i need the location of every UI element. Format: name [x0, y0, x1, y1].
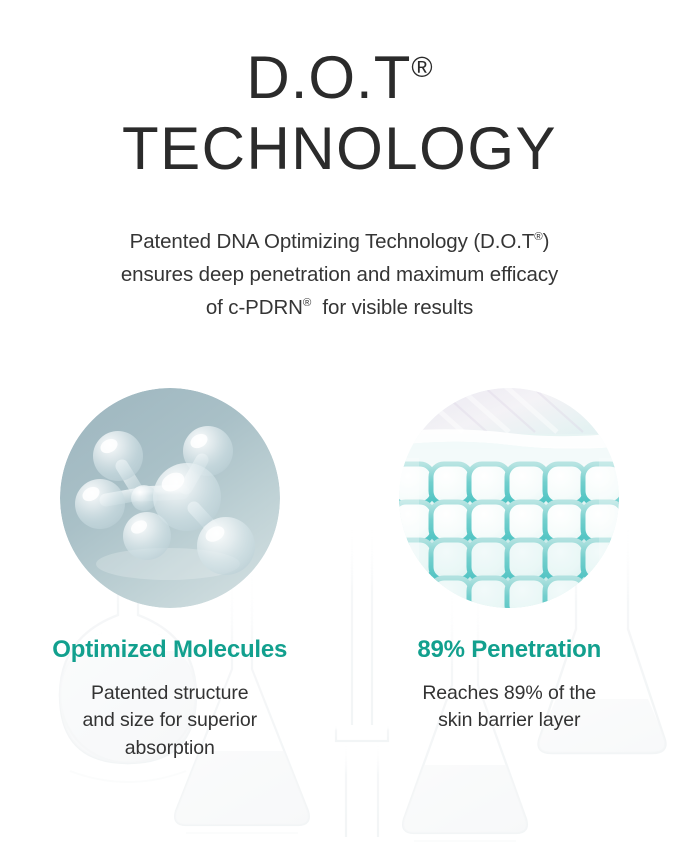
skin-barrier-illustration	[399, 388, 619, 608]
title-line-technology: TECHNOLOGY	[0, 117, 679, 182]
feature-optimized-molecules: Optimized Molecules Patented structure a…	[0, 388, 340, 763]
feature-body-line: Reaches 89% of the	[422, 680, 596, 708]
registered-trademark-icon: ®	[303, 298, 311, 310]
feature-penetration: 89% Penetration Reaches 89% of the skin …	[340, 388, 679, 763]
feature-body-optimized-molecules: Patented structure and size for superior…	[82, 680, 257, 763]
intro-line-1: Patented DNA Optimizing Technology (D.O.…	[0, 225, 679, 258]
intro-line-3-b: for visible results	[311, 296, 473, 319]
intro-line-2: ensures deep penetration and maximum eff…	[0, 258, 679, 291]
molecule-illustration	[60, 388, 280, 608]
feature-heading-penetration: 89% Penetration	[417, 636, 601, 665]
registered-trademark-icon: ®	[411, 52, 432, 84]
title-line-dot: D.O.T®	[0, 46, 679, 111]
feature-body-line: and size for superior	[82, 707, 257, 735]
intro-line-3: of c-PDRN® for visible results	[0, 291, 679, 324]
feature-columns: Optimized Molecules Patented structure a…	[0, 388, 679, 763]
feature-body-line: Patented structure	[82, 680, 257, 708]
feature-body-penetration: Reaches 89% of the skin barrier layer	[422, 680, 596, 735]
intro-paragraph: Patented DNA Optimizing Technology (D.O.…	[0, 225, 679, 325]
intro-line-1-b: )	[543, 230, 550, 253]
intro-line-1-a: Patented DNA Optimizing Technology (D.O.…	[130, 230, 535, 253]
intro-line-3-a: of c-PDRN	[206, 296, 303, 319]
title-dot-text: D.O.T	[246, 44, 411, 111]
dot-technology-infographic: D.O.T® TECHNOLOGY Patented DNA Optimizin…	[0, 0, 679, 849]
registered-trademark-icon: ®	[534, 231, 542, 243]
feature-heading-optimized-molecules: Optimized Molecules	[52, 636, 287, 665]
page-title: D.O.T® TECHNOLOGY	[0, 46, 679, 182]
feature-body-line: absorption	[82, 735, 257, 763]
feature-body-line: skin barrier layer	[422, 707, 596, 735]
